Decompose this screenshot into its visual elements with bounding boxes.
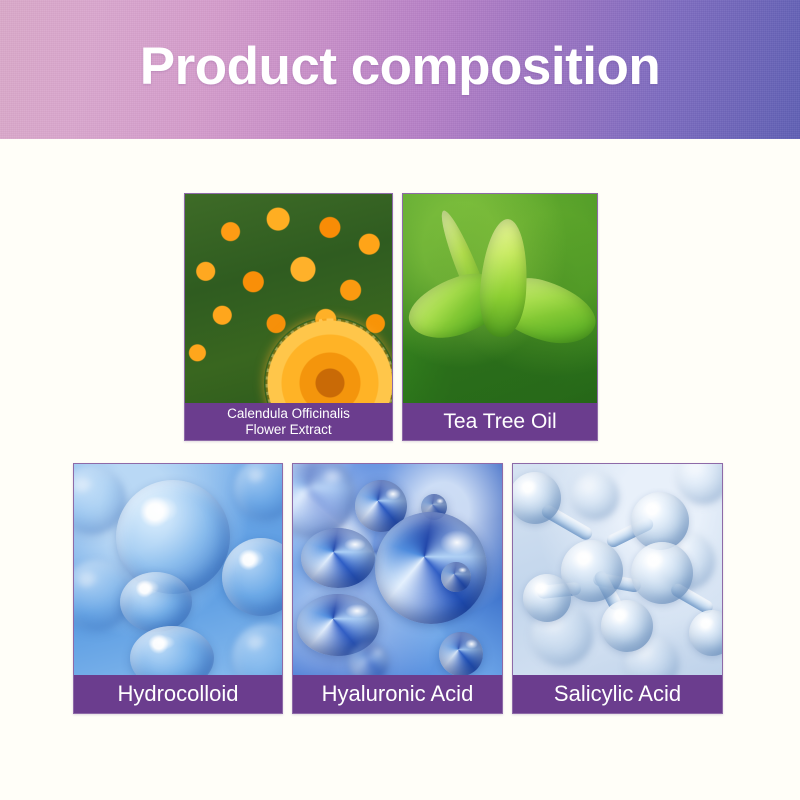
label-line-1: Calendula Officinalis — [227, 406, 350, 421]
ingredient-label-calendula: Calendula Officinalis Flower Extract — [185, 403, 392, 440]
ingredient-label-hydrocolloid: Hydrocolloid — [74, 675, 282, 714]
swirl-sphere-shape — [349, 642, 389, 675]
hyaluronic-acid-liquid-image — [293, 464, 502, 675]
ingredient-card-hyaluronic-acid[interactable]: Hyaluronic Acid — [292, 463, 503, 714]
molecule-atom-shape — [571, 472, 619, 520]
bubble-shape — [234, 464, 282, 520]
swirl-sphere-shape — [375, 512, 487, 624]
ingredient-label-text: Hyaluronic Acid — [322, 682, 474, 707]
ingredient-card-hydrocolloid[interactable]: Hydrocolloid — [73, 463, 283, 714]
molecule-atom-shape — [601, 600, 653, 652]
calendula-flower-image — [185, 194, 392, 403]
molecule-atom-shape — [631, 542, 693, 604]
molecule-atom-shape — [677, 464, 722, 504]
ingredient-label-hyaluronic-acid: Hyaluronic Acid — [293, 675, 502, 714]
ingredient-label-text: Tea Tree Oil — [443, 410, 556, 434]
tea-tree-leaves-image — [403, 194, 597, 403]
bubble-shape — [120, 572, 192, 632]
hydrocolloid-bubbles-image — [74, 464, 282, 675]
ingredient-label-text: Hydrocolloid — [117, 682, 238, 707]
swirl-sphere-shape — [439, 632, 483, 675]
ingredient-card-salicylic-acid[interactable]: Salicylic Acid — [512, 463, 723, 714]
swirl-sphere-shape — [293, 464, 355, 538]
flower-petals-decoration — [264, 317, 392, 403]
ingredient-label-tea-tree: Tea Tree Oil — [403, 403, 597, 440]
ingredient-card-calendula[interactable]: Calendula Officinalis Flower Extract — [184, 193, 393, 441]
swirl-sphere-shape — [301, 528, 375, 588]
molecule-atom-shape — [689, 610, 722, 656]
bubble-shape — [130, 626, 214, 675]
ingredient-card-tea-tree[interactable]: Tea Tree Oil — [402, 193, 598, 441]
ingredient-card-grid: Calendula Officinalis Flower Extract Tea… — [0, 139, 800, 800]
header-banner: Product composition — [0, 0, 800, 139]
label-line-2: Flower Extract — [245, 422, 331, 437]
ingredient-label-salicylic-acid: Salicylic Acid — [513, 675, 722, 714]
page-title: Product composition — [0, 36, 800, 98]
ingredient-label-text: Calendula Officinalis Flower Extract — [227, 406, 350, 436]
salicylic-acid-molecule-image — [513, 464, 722, 675]
ingredient-label-text: Salicylic Acid — [554, 682, 681, 707]
bubble-shape — [222, 538, 282, 616]
swirl-sphere-shape — [441, 562, 471, 592]
molecule-atom-shape — [523, 574, 571, 622]
bubble-shape — [232, 624, 282, 675]
